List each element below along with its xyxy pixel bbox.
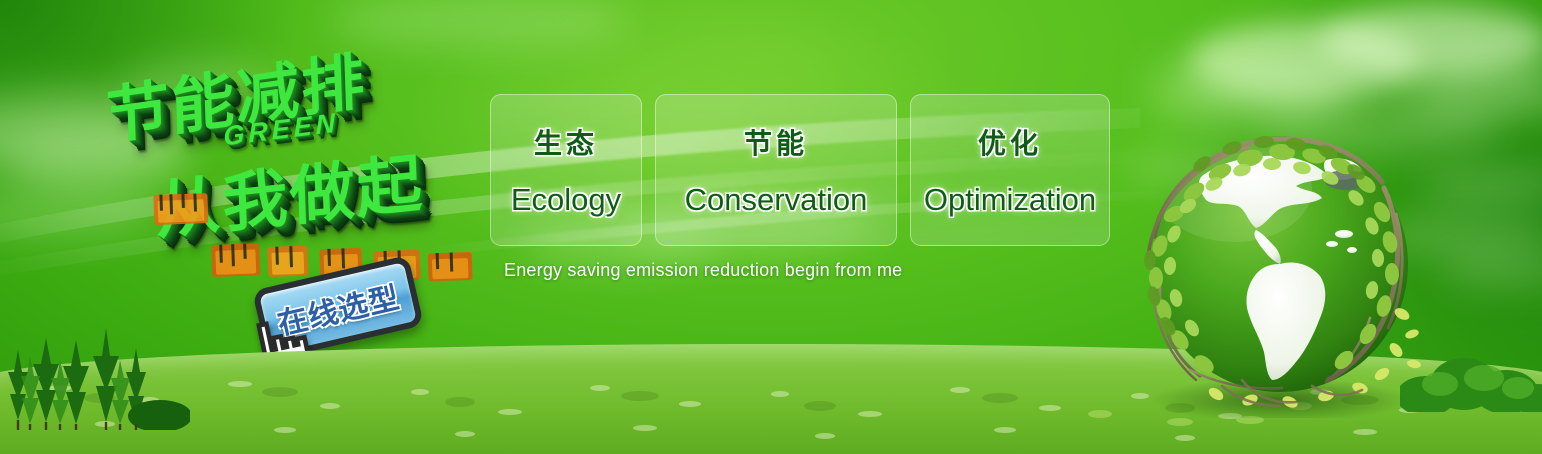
feature-card-list: 生态 Ecology 节能 Conservation 优化 Optimizati… [490, 94, 1110, 246]
card-optimization[interactable]: 优化 Optimization [910, 94, 1110, 246]
headline-3d: 节能减排 GREEN 从我做起 [100, 35, 489, 268]
cta-button-label: 在线选型 [273, 273, 404, 344]
headline-line-2: 从我做起 [154, 132, 426, 252]
card-conservation-en: Conservation [685, 182, 868, 218]
card-optimization-cn: 优化 [978, 122, 1042, 162]
earth-globe-with-vines-icon [1130, 118, 1430, 418]
card-conservation-cn: 节能 [744, 122, 808, 162]
card-optimization-en: Optimization [924, 182, 1096, 218]
card-ecology-en: Ecology [511, 182, 621, 218]
card-ecology-cn: 生态 [534, 122, 598, 162]
tagline-text: Energy saving emission reduction begin f… [504, 260, 902, 281]
promotional-banner: 节能减排 GREEN 从我做起 [0, 0, 1542, 454]
card-conservation[interactable]: 节能 Conservation [655, 94, 897, 246]
conifer-tree-cluster [0, 320, 190, 430]
card-ecology[interactable]: 生态 Ecology [490, 94, 642, 246]
